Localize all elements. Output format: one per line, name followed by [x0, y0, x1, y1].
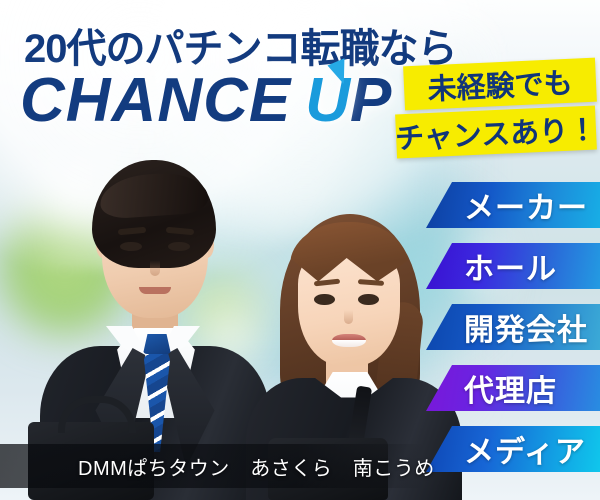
male-mouth [139, 287, 171, 294]
male-nose [150, 260, 160, 276]
category-tag-maker[interactable]: メーカー [426, 182, 600, 228]
female-eye-left [314, 294, 335, 305]
callout-badge-inexperienced: 未経験でも [403, 58, 597, 111]
male-tie-knot [143, 334, 171, 354]
female-mouth [332, 334, 366, 347]
callout-badge-chance-label: チャンスあり！ [394, 106, 598, 157]
category-tag-development-company-label: 開発会社 [464, 305, 588, 349]
category-tag-agency[interactable]: 代理店 [426, 365, 600, 411]
male-eye-right [168, 242, 190, 251]
female-nose [344, 310, 353, 324]
category-tag-media-label: メディア [464, 427, 586, 471]
callout-badge-inexperienced-label: 未経験でも [427, 60, 574, 109]
male-eye-left [120, 242, 142, 251]
caption-bar: DMMぱちタウン あさくら 南こうめ [0, 444, 424, 488]
category-tag-maker-label: メーカー [464, 183, 588, 227]
recruitment-banner[interactable]: 20代のパチンコ転職なら CHANCE U P 未経験でも チャンスあり！ メー… [0, 0, 600, 500]
category-tag-development-company[interactable]: 開発会社 [426, 304, 600, 350]
category-tag-hall-label: ホール [464, 244, 557, 288]
female-eye-right [358, 294, 379, 305]
category-tag-hall[interactable]: ホール [426, 243, 600, 289]
callout-badge-chance: チャンスあり！ [395, 105, 597, 158]
category-tag-agency-label: 代理店 [464, 366, 557, 410]
caption-text: DMMぱちタウン あさくら 南こうめ [78, 452, 435, 481]
logo-word-chance: CHANCE [20, 70, 291, 132]
logo-letter-u: U [305, 70, 350, 132]
category-tag-media[interactable]: メディア [426, 426, 600, 472]
logo-letter-p: P [350, 70, 391, 132]
logo-chance-up: CHANCE U P [20, 70, 391, 132]
male-hair [92, 160, 216, 268]
